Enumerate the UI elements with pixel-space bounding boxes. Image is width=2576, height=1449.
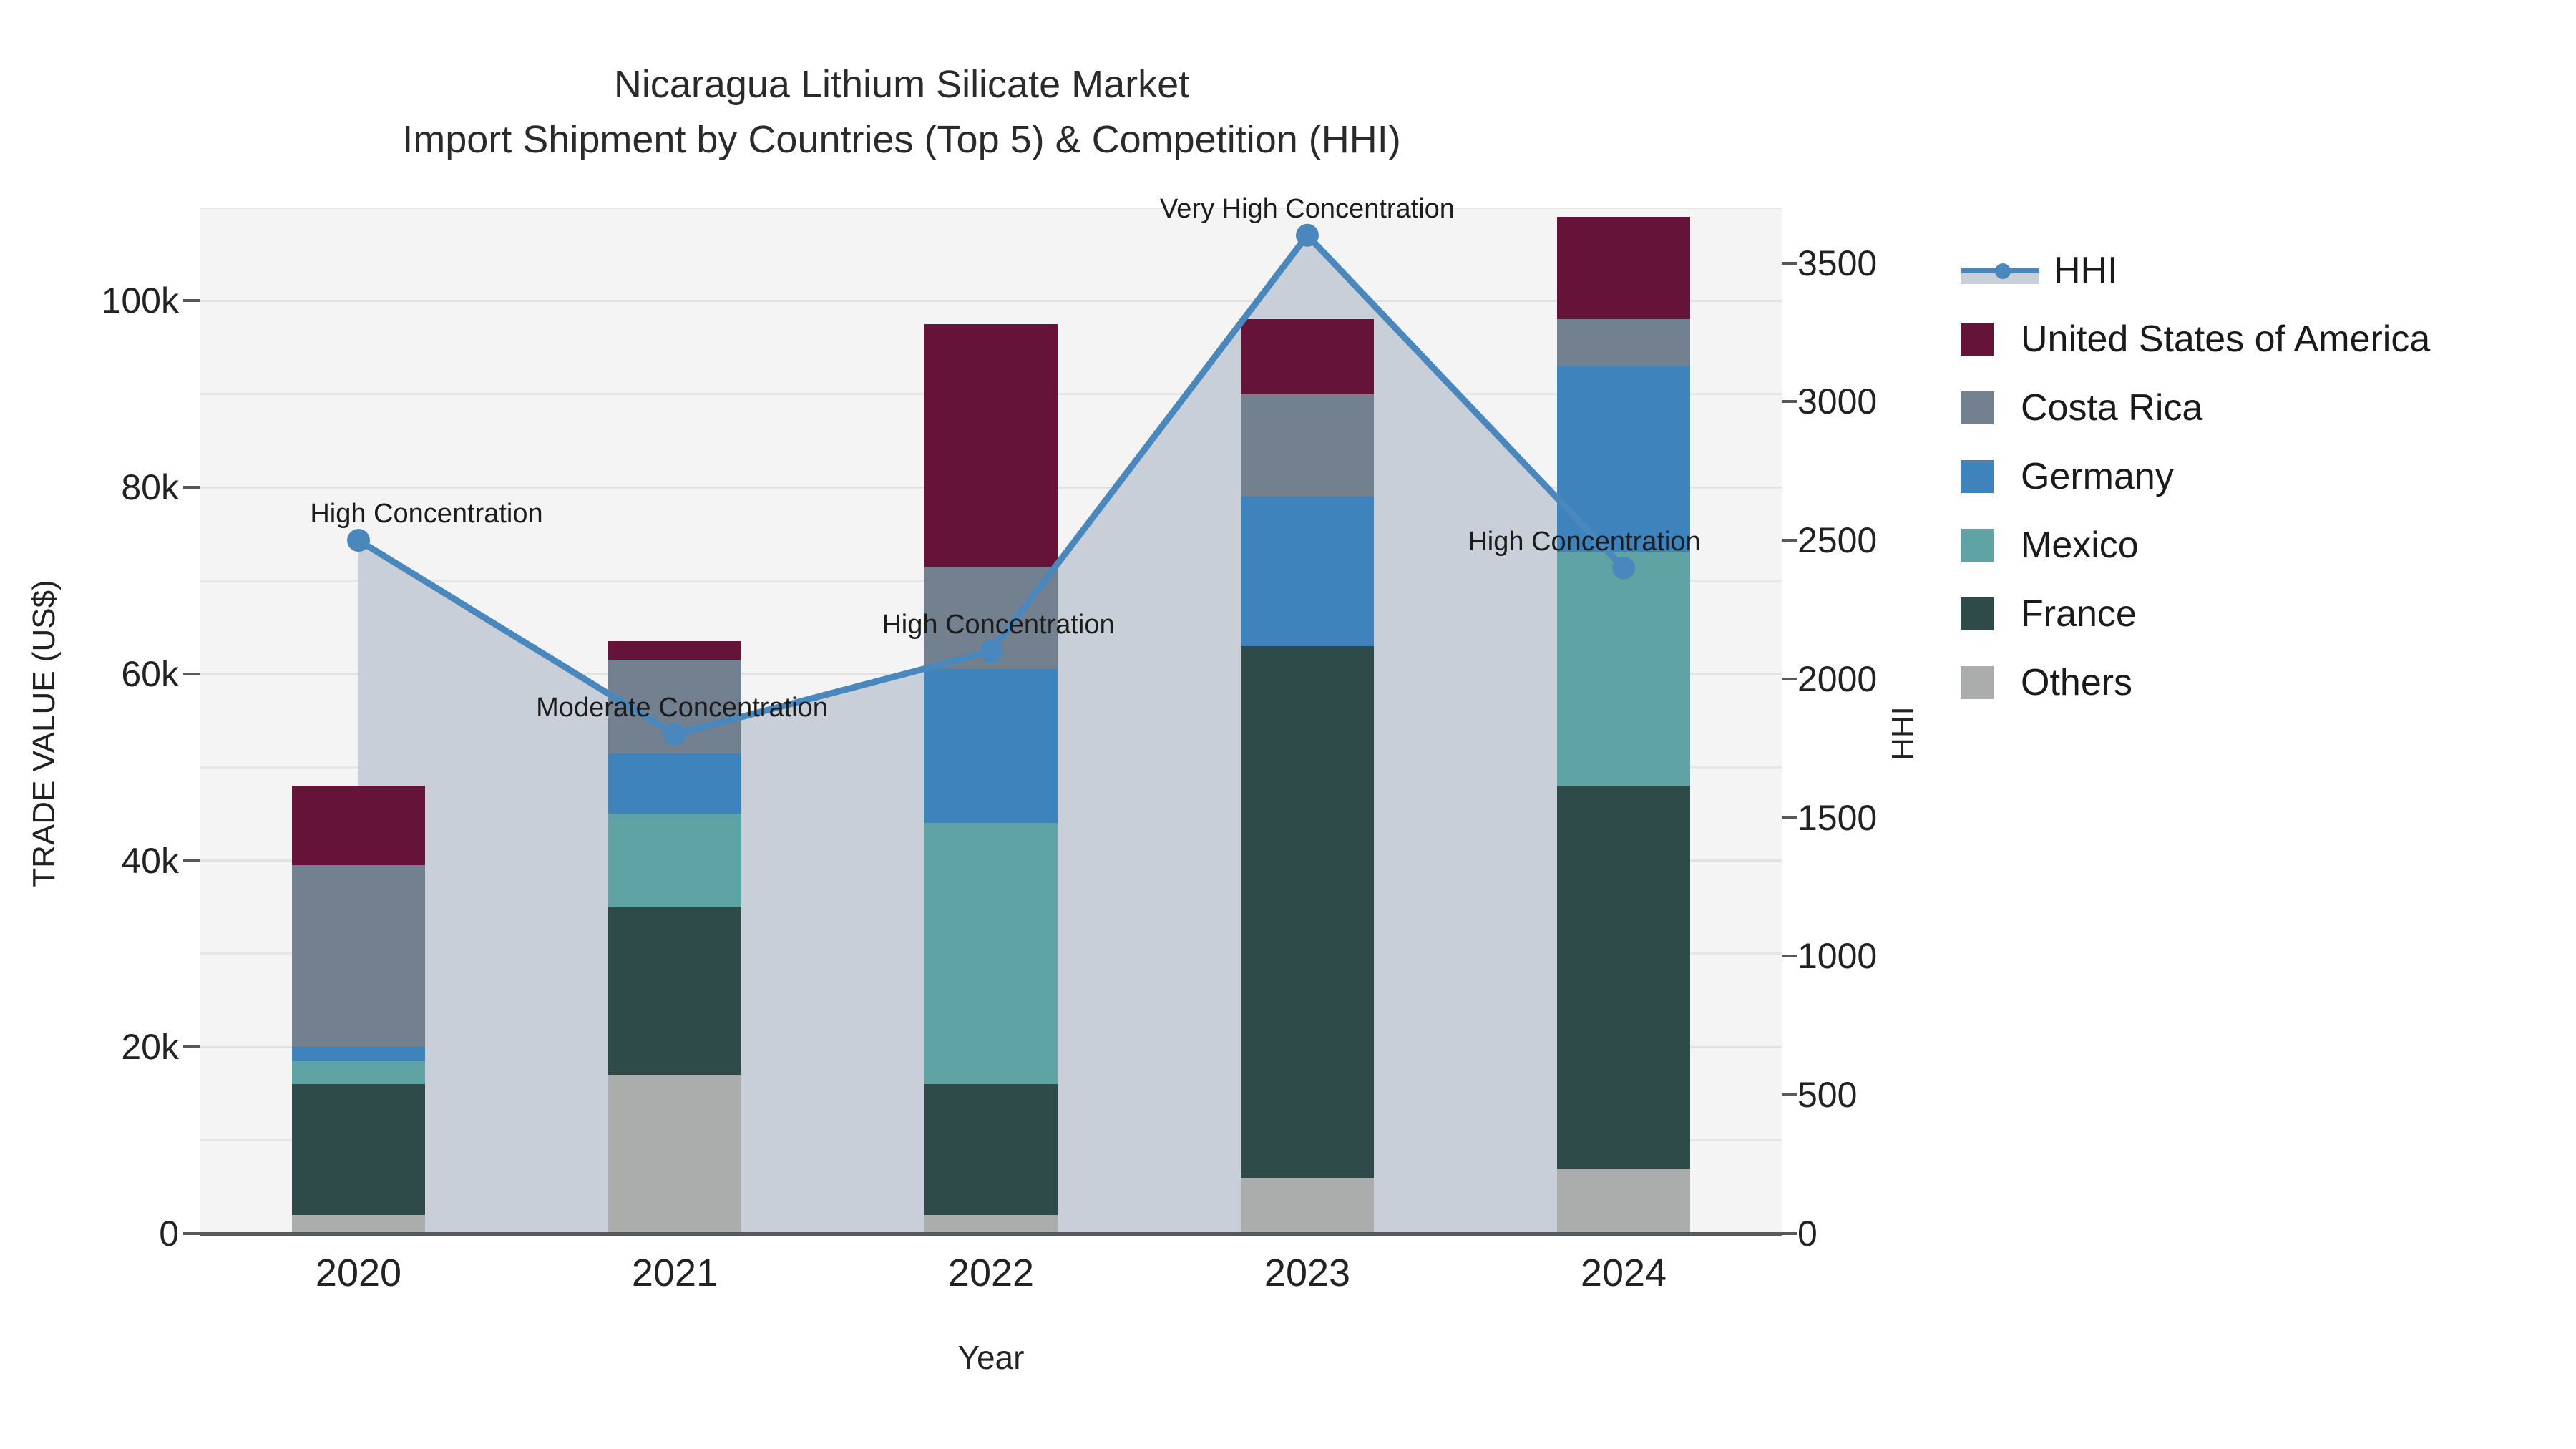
legend-item[interactable]: Others xyxy=(1961,648,2430,717)
x-axis-tick-label: 2023 xyxy=(1264,1251,1350,1295)
y-axis-right-tick-mark xyxy=(1782,262,1797,265)
y-axis-right-tick-label: 1500 xyxy=(1797,797,1969,839)
concentration-annotation: High Concentration xyxy=(882,610,1114,640)
y-axis-right-tick-label: 0 xyxy=(1797,1213,1969,1254)
x-axis-label: Year xyxy=(200,1338,1782,1377)
y-axis-left-tick-mark xyxy=(183,299,200,302)
legend-item[interactable]: Costa Rica xyxy=(1961,374,2430,442)
legend-item[interactable]: Germany xyxy=(1961,442,2430,511)
y-axis-right-tick-label: 2500 xyxy=(1797,519,1969,561)
legend-item[interactable]: Mexico xyxy=(1961,511,2430,580)
plot-area: High ConcentrationModerate Concentration… xyxy=(200,208,1782,1234)
chart-title: Nicaragua Lithium Silicate Market Import… xyxy=(0,57,1803,167)
x-axis-tick-label: 2021 xyxy=(632,1251,718,1295)
concentration-annotation: Moderate Concentration xyxy=(536,693,828,723)
y-axis-right-tick-label: 500 xyxy=(1797,1074,1969,1116)
legend-line-icon xyxy=(1961,254,2039,287)
y-axis-left-tick-mark xyxy=(183,1232,200,1235)
legend-item-label: Costa Rica xyxy=(2021,389,2202,426)
y-axis-left-tick-mark xyxy=(183,673,200,675)
y-axis-left-tick-label: 100k xyxy=(21,280,179,321)
x-axis-line xyxy=(200,1232,1782,1236)
y-axis-right-tick-mark xyxy=(1782,539,1797,542)
chart-title-line-1: Nicaragua Lithium Silicate Market xyxy=(0,57,1803,112)
concentration-annotation: Very High Concentration xyxy=(1160,194,1455,225)
legend-color-swatch xyxy=(1961,529,1994,562)
legend-marker-dot xyxy=(1995,263,2011,279)
y-axis-left-tick-mark xyxy=(183,859,200,862)
legend-item-label: HHI xyxy=(2054,252,2118,289)
chart-root: Nicaragua Lithium Silicate Market Import… xyxy=(0,0,2576,1449)
y-axis-right-tick-mark xyxy=(1782,816,1797,819)
legend-item-label: Mexico xyxy=(2021,527,2139,564)
legend-item-label: France xyxy=(2021,595,2137,633)
y-axis-right-tick-mark xyxy=(1782,678,1797,680)
legend-item[interactable]: HHI xyxy=(1961,236,2430,305)
legend-item-label: Others xyxy=(2021,664,2132,701)
legend: HHIUnited States of AmericaCosta RicaGer… xyxy=(1961,236,2430,717)
y-axis-right-tick-label: 3500 xyxy=(1797,243,1969,284)
legend-color-swatch xyxy=(1961,597,1994,630)
legend-color-swatch xyxy=(1961,460,1994,493)
x-axis-tick-label: 2020 xyxy=(316,1251,401,1295)
y-axis-left-label: TRADE VALUE (US$) xyxy=(26,462,62,1005)
y-axis-left-tick-label: 0 xyxy=(21,1213,179,1254)
y-axis-left-tick-label: 20k xyxy=(21,1026,179,1068)
x-axis-tick-label: 2024 xyxy=(1581,1251,1667,1295)
y-axis-right-tick-label: 3000 xyxy=(1797,381,1969,422)
chart-title-line-2: Import Shipment by Countries (Top 5) & C… xyxy=(0,112,1803,167)
y-axis-right-label: HHI xyxy=(1885,648,1921,819)
y-axis-right-tick-label: 2000 xyxy=(1797,658,1969,700)
legend-color-swatch xyxy=(1961,323,1994,356)
y-axis-right-tick-mark xyxy=(1782,1232,1797,1235)
x-axis-tick-label: 2022 xyxy=(948,1251,1034,1295)
annotations: High ConcentrationModerate Concentration… xyxy=(200,208,1782,1234)
legend-item-label: Germany xyxy=(2021,458,2174,495)
y-axis-right-tick-mark xyxy=(1782,400,1797,403)
y-axis-right-tick-label: 1000 xyxy=(1797,935,1969,977)
y-axis-right-tick-mark xyxy=(1782,955,1797,957)
legend-item-label: United States of America xyxy=(2021,321,2430,358)
y-axis-left-tick-mark xyxy=(183,1045,200,1048)
legend-item[interactable]: France xyxy=(1961,580,2430,648)
concentration-annotation: High Concentration xyxy=(310,499,542,530)
legend-item[interactable]: United States of America xyxy=(1961,305,2430,374)
y-axis-right-tick-mark xyxy=(1782,1093,1797,1096)
concentration-annotation: High Concentration xyxy=(1468,527,1700,557)
legend-color-swatch xyxy=(1961,391,1994,424)
y-axis-left-tick-mark xyxy=(183,486,200,489)
legend-color-swatch xyxy=(1961,666,1994,699)
